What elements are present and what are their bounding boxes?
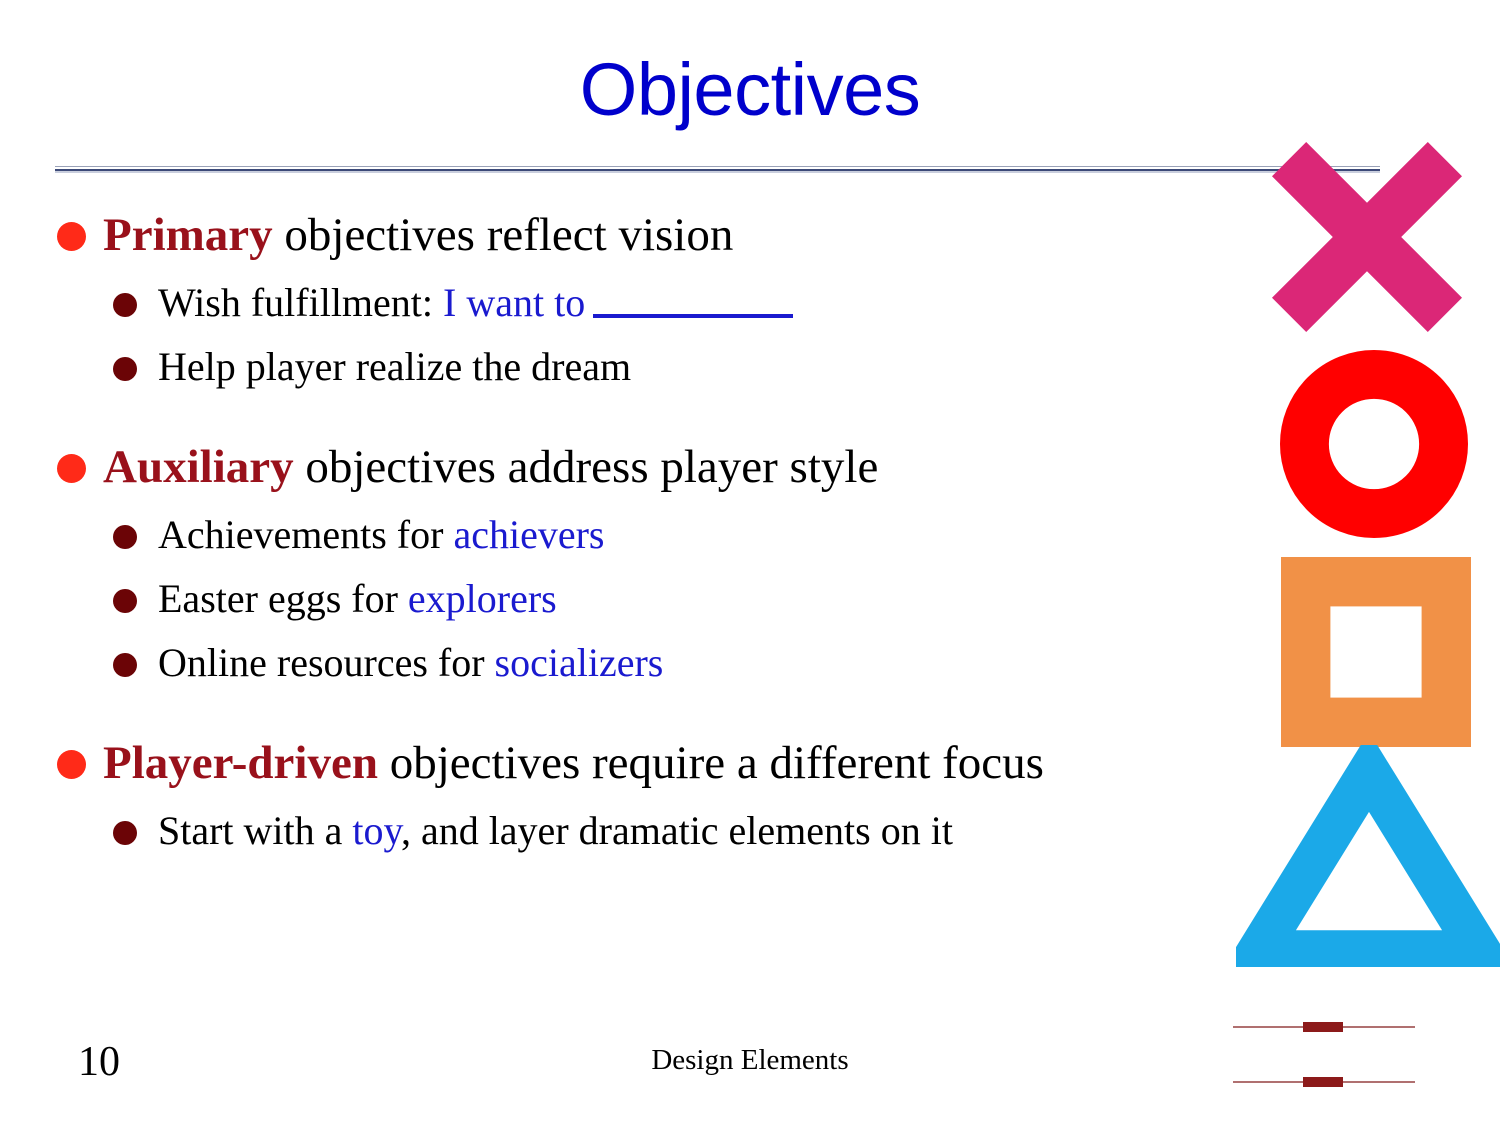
deco-thick-block	[1303, 1077, 1343, 1087]
subbullet-text: Start with a	[158, 808, 352, 853]
spacer	[0, 265, 1330, 277]
subbullet-easter-eggs: Easter eggs for explorers	[0, 573, 1330, 625]
subbullet-text: Wish fulfillment:	[158, 280, 443, 325]
spacer	[0, 793, 1330, 805]
bullet-dot-icon	[113, 293, 137, 317]
bullet-dot-icon	[57, 222, 86, 251]
subbullet-text: Online resources for	[158, 640, 495, 685]
rule-line-shadow	[55, 171, 1380, 173]
subbullet-text-post: , and layer dramatic elements on it	[401, 808, 953, 853]
bullet-dot-icon	[113, 357, 137, 381]
spacer	[0, 497, 1330, 509]
decorative-rule-top	[1233, 1022, 1415, 1032]
subbullet-achievements: Achievements for achievers	[0, 509, 1330, 561]
bullet-body: Primary objectives reflect vision Wish f…	[0, 205, 1330, 857]
bullet-dot-icon	[113, 821, 137, 845]
subbullet-start-with-toy: Start with a toy, and layer dramatic ele…	[0, 805, 1330, 857]
subbullet-highlight: achievers	[453, 512, 604, 557]
circle-ring-shape-icon	[1280, 350, 1468, 538]
subbullet-highlight: toy	[352, 808, 401, 853]
spacer	[0, 561, 1330, 573]
subbullet-help-player: Help player realize the dream	[0, 341, 1330, 393]
decorative-rule-bottom	[1233, 1077, 1415, 1087]
fill-in-blank	[593, 314, 793, 318]
subbullet-online-resources: Online resources for socializers	[0, 637, 1330, 689]
title-divider-rule	[55, 166, 1380, 173]
subbullet-highlight: I want to	[443, 280, 585, 325]
cross-shape-icon	[1272, 142, 1462, 332]
bullet-dot-icon	[113, 653, 137, 677]
subbullet-highlight: socializers	[495, 640, 664, 685]
bullet-text: objectives address player style	[294, 441, 879, 493]
deco-thick-block	[1303, 1022, 1343, 1032]
subbullet-wish-fulfillment: Wish fulfillment: I want to	[0, 277, 1330, 329]
triangle-outline-shape-icon	[1236, 745, 1500, 967]
bullet-text: objectives reflect vision	[273, 209, 734, 261]
subbullet-text: Help player realize the dream	[158, 344, 631, 389]
spacer	[0, 689, 1330, 733]
bullet-keyword: Auxiliary	[103, 441, 294, 493]
bullet-keyword: Player-driven	[103, 737, 378, 789]
square-outline-shape-icon	[1281, 557, 1471, 747]
spacer	[0, 329, 1330, 341]
page-title: Objectives	[0, 48, 1500, 132]
subbullet-text: Easter eggs for	[158, 576, 408, 621]
bullet-keyword: Primary	[103, 209, 273, 261]
slide-canvas: Objectives Primary objectives reflect vi…	[0, 0, 1500, 1125]
subbullet-highlight: explorers	[408, 576, 557, 621]
subbullet-text: Achievements for	[158, 512, 453, 557]
bullet-player-driven: Player-driven objectives require a diffe…	[0, 733, 1330, 793]
bullet-primary: Primary objectives reflect vision	[0, 205, 1330, 265]
bullet-dot-icon	[113, 589, 137, 613]
footer-label: Design Elements	[0, 1042, 1500, 1078]
bullet-text: objectives require a different focus	[378, 737, 1044, 789]
bullet-dot-icon	[113, 525, 137, 549]
spacer	[0, 393, 1330, 437]
bullet-auxiliary: Auxiliary objectives address player styl…	[0, 437, 1330, 497]
bullet-dot-icon	[57, 750, 86, 779]
bullet-dot-icon	[57, 454, 86, 483]
spacer	[0, 625, 1330, 637]
